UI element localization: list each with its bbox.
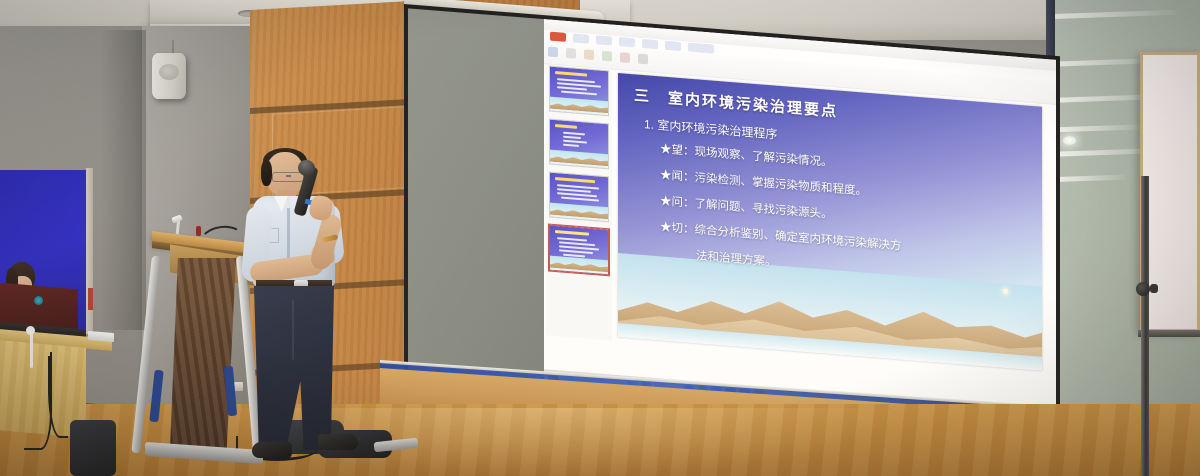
slide-bullet: ★问：了解问题、寻找污染源头。 <box>660 192 833 222</box>
presenter-shoe <box>252 442 292 458</box>
thumb-title-bar <box>555 124 577 128</box>
ceiling-lamp-reflection <box>1063 136 1076 145</box>
projected-image-area: 三 室内环境污染治理要点 1. 室内环境污染治理程序 ★望：现场观察、了解污染情… <box>544 19 1056 432</box>
lecture-hall-photo: 三 室内环境污染治理要点 1. 室内环境污染治理程序 ★望：现场观察、了解污染情… <box>0 0 1200 476</box>
slide-thumbnail[interactable] <box>549 66 609 117</box>
ribbon-icon[interactable] <box>566 48 576 59</box>
thumb-text-line <box>563 140 587 143</box>
slide-thumbnail[interactable] <box>549 119 609 170</box>
slide-bullet: ★望：现场观察、了解污染情况。 <box>660 140 833 170</box>
thumb-text-line <box>561 196 599 201</box>
whiteboard-stand-pole <box>1141 176 1149 476</box>
thumb-title-bar <box>555 230 589 235</box>
slide-thumbnail-pane[interactable] <box>546 65 612 340</box>
ribbon-icon[interactable] <box>620 52 630 63</box>
thumb-text-line <box>561 90 597 94</box>
slide-sun-icon <box>1003 289 1008 294</box>
ribbon-tab[interactable] <box>573 33 589 43</box>
speaker-cone-icon <box>159 64 179 80</box>
presenter-shoe <box>318 434 358 450</box>
whiteboard-adjust-knob[interactable] <box>1136 282 1150 296</box>
glass-glare <box>1046 124 1141 132</box>
slide-thumbnail-selected[interactable] <box>549 225 609 276</box>
glass-glare <box>1046 10 1176 20</box>
powerpoint-window: 三 室内环境污染治理要点 1. 室内环境污染治理程序 ★望：现场观察、了解污染情… <box>544 19 1056 432</box>
laptop-logo-icon <box>34 296 43 305</box>
slide-thumbnail[interactable] <box>549 172 609 223</box>
thumb-text-line <box>563 132 585 135</box>
presenter-hair-side <box>261 160 272 186</box>
ribbon-tab[interactable] <box>596 35 612 45</box>
thumb-text-line <box>557 86 587 90</box>
trouser-seam <box>292 300 294 360</box>
office-chair <box>70 420 116 476</box>
ribbon-icon[interactable] <box>548 46 558 57</box>
screen-unlit-area <box>408 8 544 391</box>
ribbon-icon[interactable] <box>584 49 594 60</box>
desk-microphone-head <box>26 326 35 335</box>
ribbon-tab[interactable] <box>550 32 566 42</box>
presenter-glasses <box>272 172 304 182</box>
thumb-text-line <box>563 136 581 139</box>
podium-body <box>170 258 236 448</box>
current-slide[interactable]: 三 室内环境污染治理要点 1. 室内环境污染治理程序 ★望：现场观察、了解污染情… <box>618 73 1042 371</box>
pillar-shadow <box>100 30 146 330</box>
ribbon-tab[interactable] <box>619 37 635 47</box>
podium-microphone-head <box>196 226 201 236</box>
slide-subtitle: 1. 室内环境污染治理程序 <box>644 115 777 143</box>
ribbon-tab[interactable] <box>642 39 658 49</box>
backdrop-red-marker <box>88 288 93 310</box>
glasses-bridge <box>286 175 291 177</box>
ribbon-icon[interactable] <box>638 54 648 65</box>
thumb-text-line <box>563 144 579 147</box>
thumb-title-bar <box>555 71 587 76</box>
thumb-text-line <box>557 237 587 241</box>
ribbon-tab[interactable] <box>665 41 681 51</box>
ribbon-icon[interactable] <box>602 51 612 62</box>
whiteboard-clamp[interactable] <box>1150 284 1158 293</box>
thumb-title-bar <box>555 177 595 183</box>
